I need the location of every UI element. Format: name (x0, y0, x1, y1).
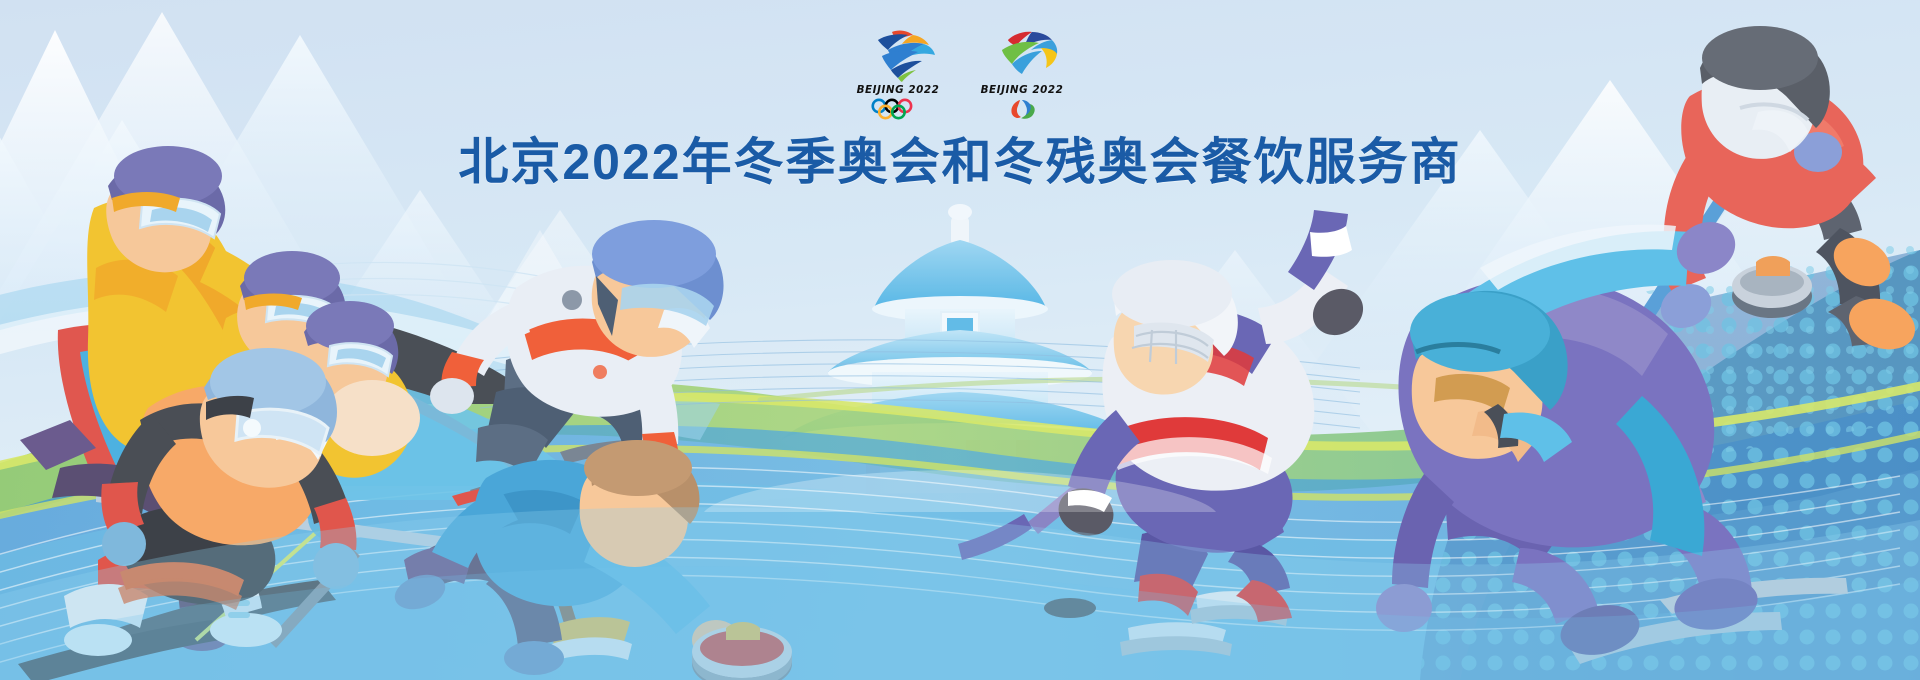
beijing-2022-catering-sponsor-banner: BEIJING 2022 (0, 0, 1920, 680)
foreground-wave-overlay (0, 0, 1920, 680)
